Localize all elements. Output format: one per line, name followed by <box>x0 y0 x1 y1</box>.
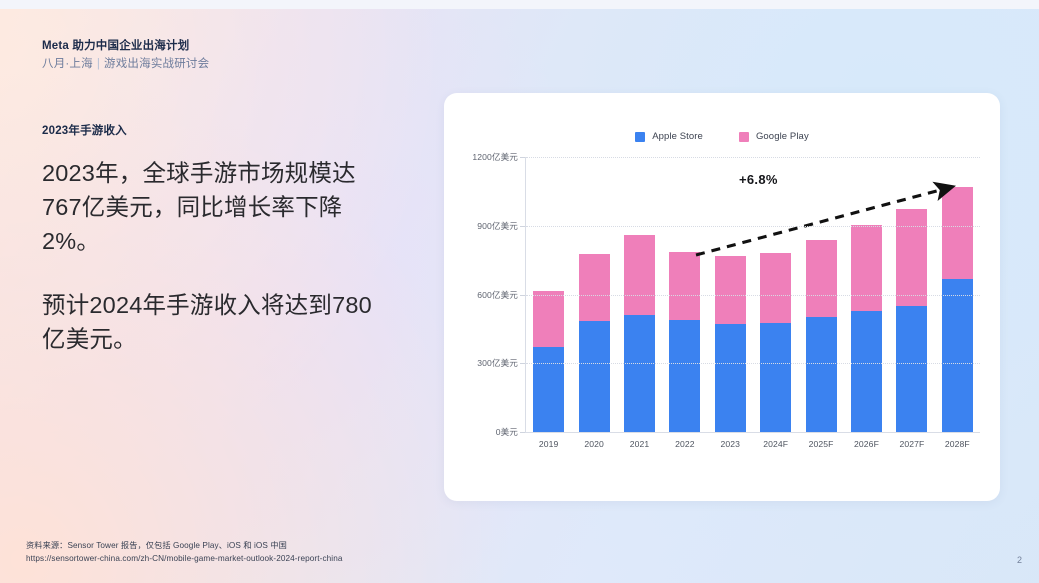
bar-segment-apple-store <box>942 279 973 432</box>
x-axis-tick-label: 2024F <box>753 439 798 449</box>
y-axis-tick-label: 1200亿美元 <box>452 151 518 163</box>
x-axis-tick-label: 2023 <box>708 439 753 449</box>
page-number: 2 <box>1017 555 1022 565</box>
bar-segment-google-play <box>533 291 564 347</box>
gridline <box>526 295 980 296</box>
bar-segment-google-play <box>760 253 791 322</box>
y-axis-tick-label: 0美元 <box>452 426 518 438</box>
slide: Meta 助力中国企业出海计划 八月·上海|游戏出海实战研讨会 2023年手游收… <box>0 0 1039 583</box>
bar-segment-google-play <box>851 225 882 311</box>
x-axis-tick-label: 2025F <box>798 439 843 449</box>
bar-segment-google-play <box>806 240 837 318</box>
x-axis-tick-label: 2020 <box>571 439 616 449</box>
x-axis-tick-label: 2021 <box>617 439 662 449</box>
slide-top-border <box>0 0 1039 9</box>
copy-paragraph-1: 2023年，全球手游市场规模达767亿美元，同比增长率下降 2%。 <box>42 156 392 258</box>
footer-url[interactable]: https://sensortower-china.com/zh-CN/mobi… <box>26 553 343 566</box>
chart-card: Apple StoreGoogle Play +6.8% 0美元300亿美元60… <box>444 93 1000 501</box>
bar-segment-apple-store <box>806 317 837 432</box>
y-axis-tick-label: 600亿美元 <box>452 289 518 301</box>
bar-segment-google-play <box>579 254 610 321</box>
y-tick-mark <box>520 157 525 158</box>
header-title: Meta 助力中国企业出海计划 <box>42 38 209 54</box>
bar-segment-apple-store <box>624 315 655 432</box>
x-axis-tick-label: 2028F <box>935 439 980 449</box>
y-tick-mark <box>520 432 525 433</box>
x-axis-tick-label: 2022 <box>662 439 707 449</box>
bar-segment-apple-store <box>896 306 927 432</box>
growth-annotation: +6.8% <box>739 172 778 187</box>
copy-kicker: 2023年手游收入 <box>42 122 392 138</box>
bar-segment-apple-store <box>760 323 791 432</box>
bar-segment-apple-store <box>579 321 610 432</box>
header-subtitle-separator: | <box>97 58 100 70</box>
y-tick-mark <box>520 226 525 227</box>
y-tick-mark <box>520 363 525 364</box>
header-subtitle: 八月·上海|游戏出海实战研讨会 <box>42 56 209 73</box>
header-subtitle-right: 游戏出海实战研讨会 <box>104 58 209 70</box>
bar-segment-apple-store <box>715 324 746 432</box>
gridline <box>526 363 980 364</box>
y-tick-mark <box>520 295 525 296</box>
slide-header: Meta 助力中国企业出海计划 八月·上海|游戏出海实战研讨会 <box>42 38 209 73</box>
copy-paragraph-2: 预计2024年手游收入将达到780亿美元。 <box>42 288 392 356</box>
gridline <box>526 157 980 158</box>
y-axis-tick-label: 900亿美元 <box>452 220 518 232</box>
y-axis-tick-label: 300亿美元 <box>452 357 518 369</box>
bar-segment-apple-store <box>851 311 882 432</box>
bar-segment-apple-store <box>533 347 564 432</box>
chart-plot-area: +6.8% 0美元300亿美元600亿美元900亿美元1200亿美元201920… <box>444 93 1000 501</box>
bar-segment-google-play <box>624 235 655 315</box>
gridline <box>526 226 980 227</box>
x-axis-line <box>525 432 980 433</box>
bar-segment-google-play <box>715 256 746 324</box>
slide-footer: 资料来源：Sensor Tower 报告，仅包括 Google Play、iOS… <box>26 540 343 565</box>
bar-segment-google-play <box>896 209 927 306</box>
bar-segment-google-play <box>942 187 973 279</box>
bar-segment-google-play <box>669 252 700 321</box>
bar-segment-apple-store <box>669 320 700 432</box>
left-copy-block: 2023年手游收入 2023年，全球手游市场规模达767亿美元，同比增长率下降 … <box>42 122 392 356</box>
x-axis-tick-label: 2019 <box>526 439 571 449</box>
footer-source: 资料来源：Sensor Tower 报告，仅包括 Google Play、iOS… <box>26 540 343 553</box>
x-axis-tick-label: 2026F <box>844 439 889 449</box>
header-subtitle-left: 八月·上海 <box>42 58 93 70</box>
x-axis-tick-label: 2027F <box>889 439 934 449</box>
